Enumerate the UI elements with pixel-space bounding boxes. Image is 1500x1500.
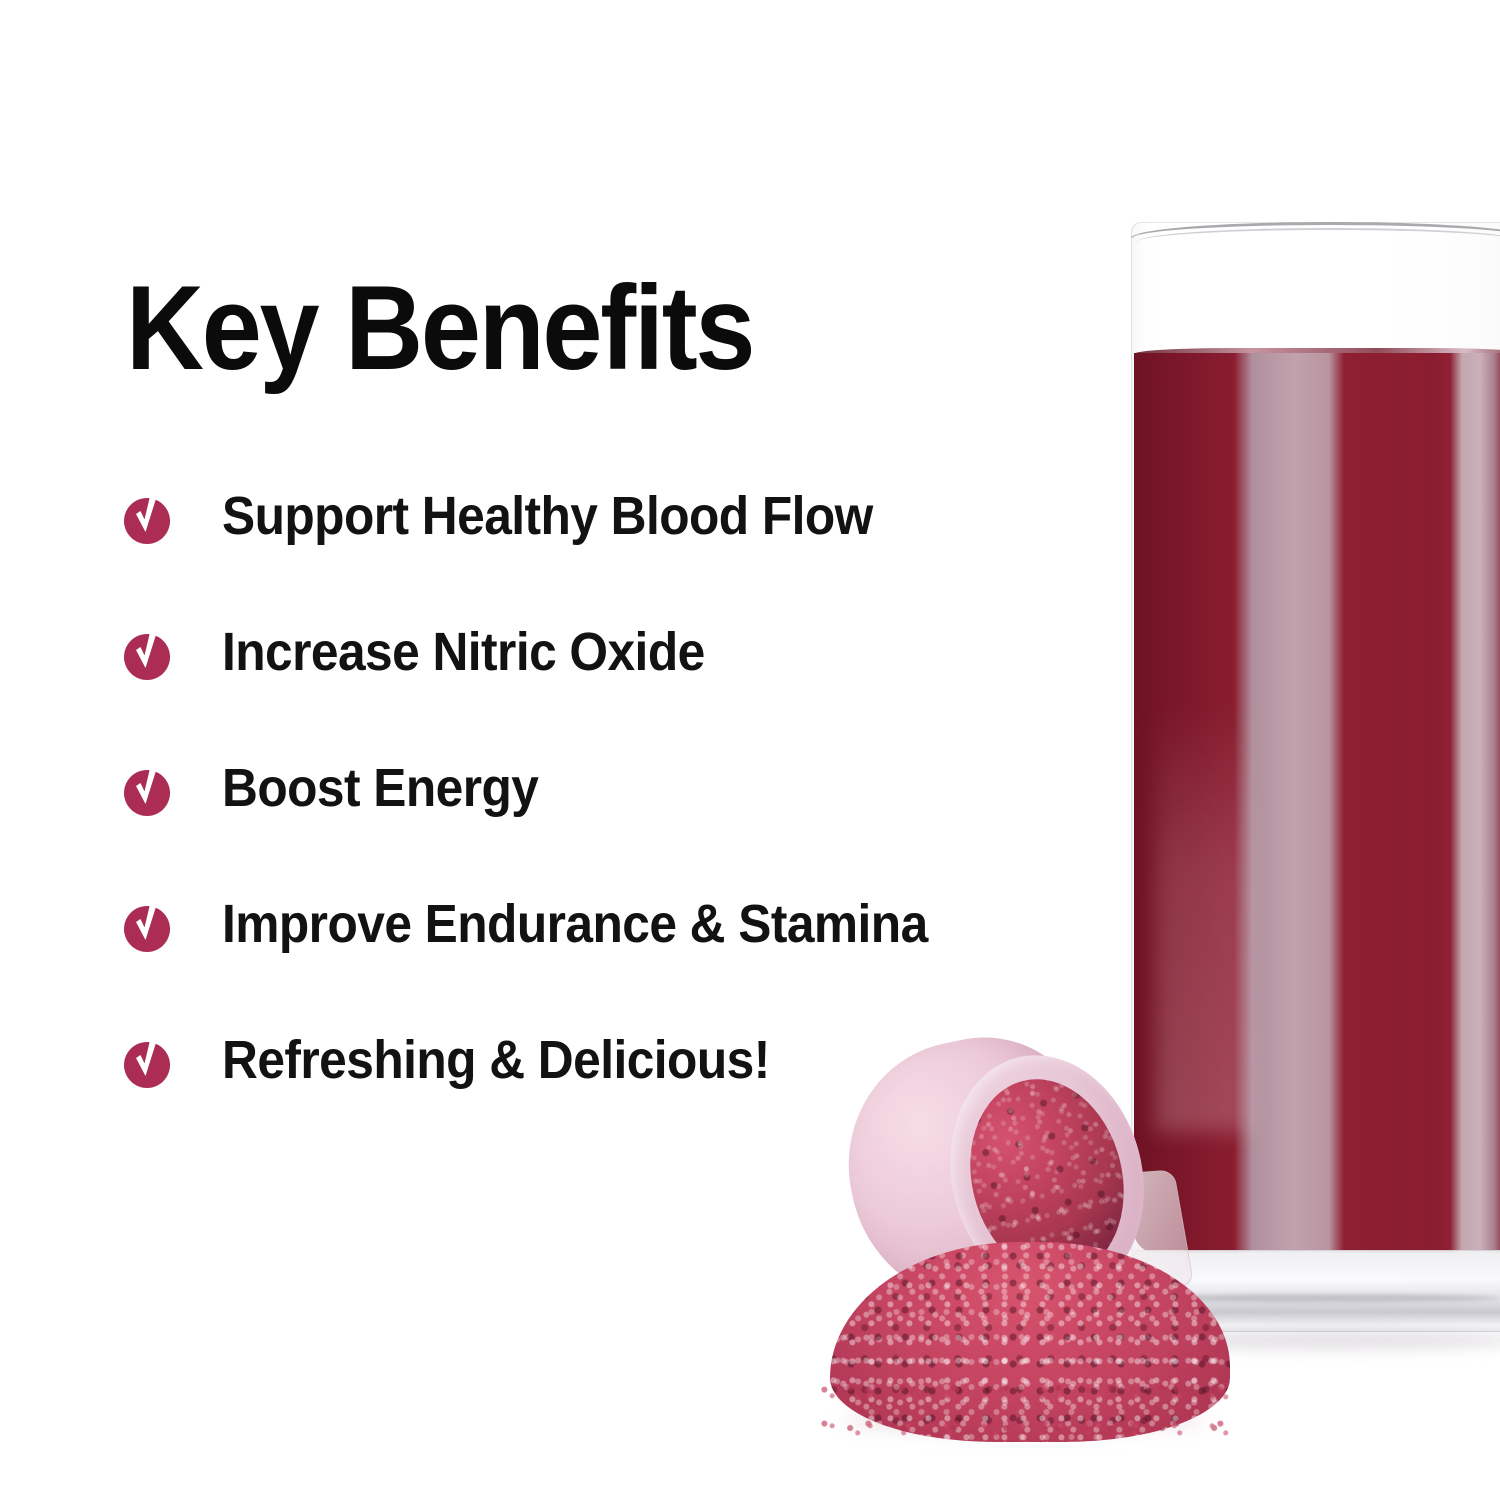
benefit-label: Refreshing & Delicious! (222, 1024, 770, 1087)
benefit-label: Boost Energy (222, 752, 538, 815)
check-circle-icon (124, 1036, 171, 1088)
benefit-label: Increase Nitric Oxide (222, 616, 705, 679)
list-item: Boost Energy (124, 752, 1084, 888)
check-circle-icon (124, 628, 171, 680)
check-circle-icon (124, 764, 171, 816)
list-item: Increase Nitric Oxide (124, 616, 1084, 752)
check-circle-icon (124, 900, 171, 952)
benefits-infographic: Key Benefits Support Healthy Blood Flow … (0, 0, 1500, 1500)
list-item: Support Healthy Blood Flow (124, 480, 1084, 616)
list-item: Improve Endurance & Stamina (124, 888, 1084, 1024)
powder-scatter (820, 1376, 1240, 1448)
benefit-label: Improve Endurance & Stamina (222, 888, 928, 951)
page-title: Key Benefits (126, 268, 753, 388)
benefit-label: Support Healthy Blood Flow (222, 480, 873, 543)
check-circle-icon (124, 492, 171, 544)
measuring-scoop (820, 1020, 1240, 1450)
